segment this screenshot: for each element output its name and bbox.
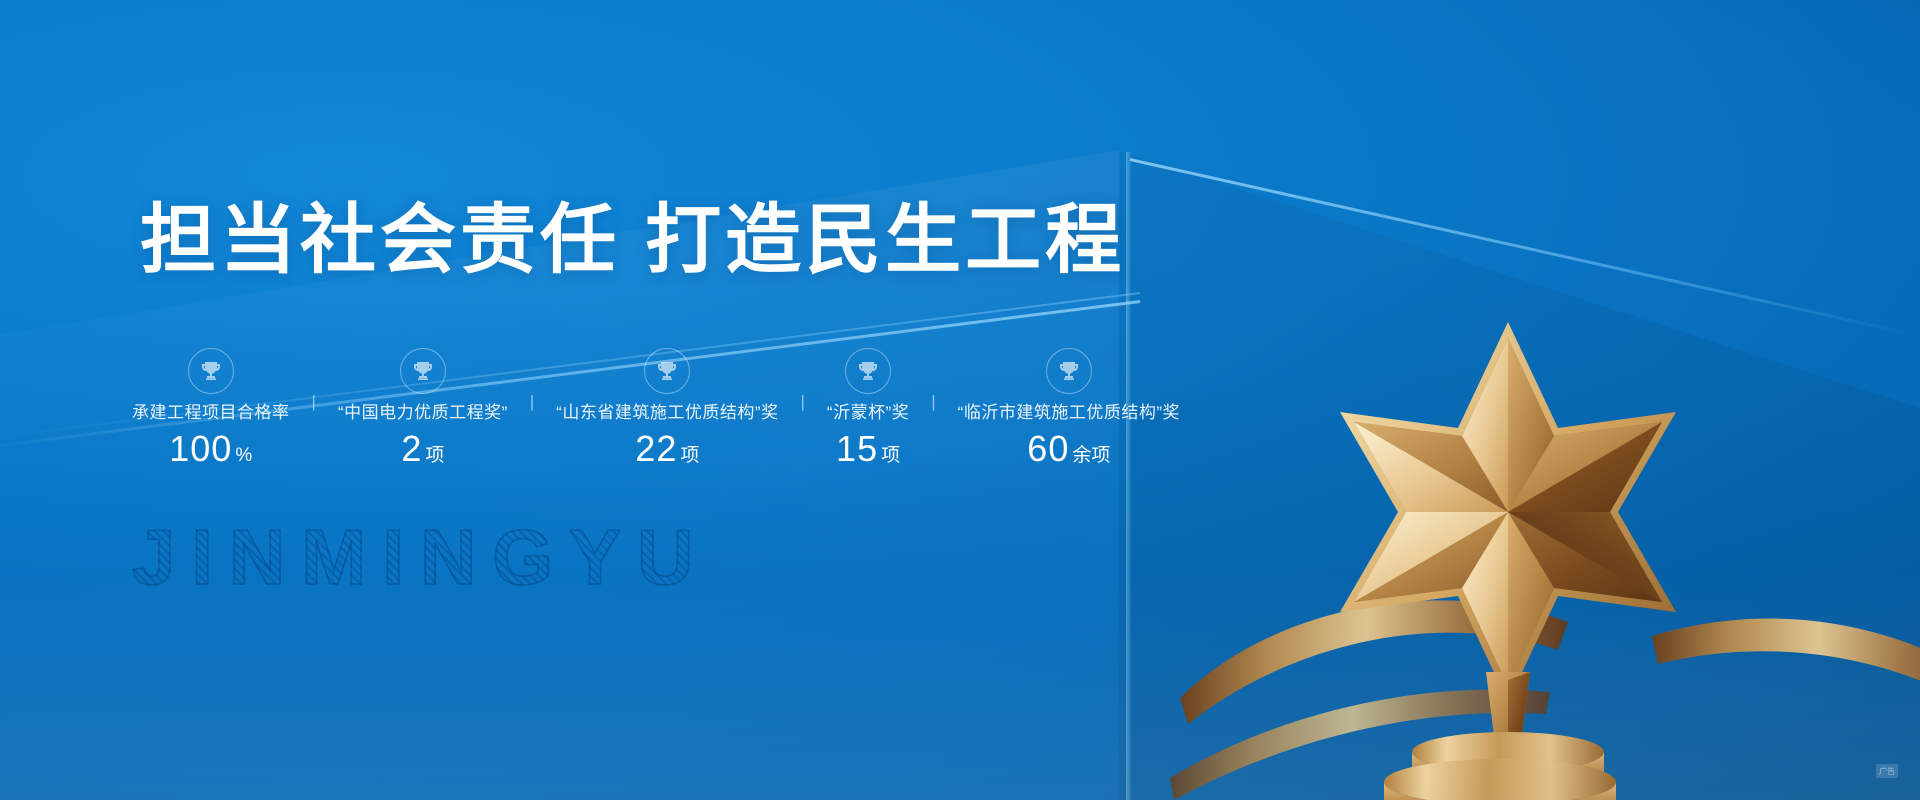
ad-corner-mark: 广告 [1876,764,1898,778]
vignette-overlay [0,0,1920,800]
banner-stage: JINMINGYU 担当社会责任 打造民生工程 承建工程项目合格率 100 % … [0,0,1920,800]
